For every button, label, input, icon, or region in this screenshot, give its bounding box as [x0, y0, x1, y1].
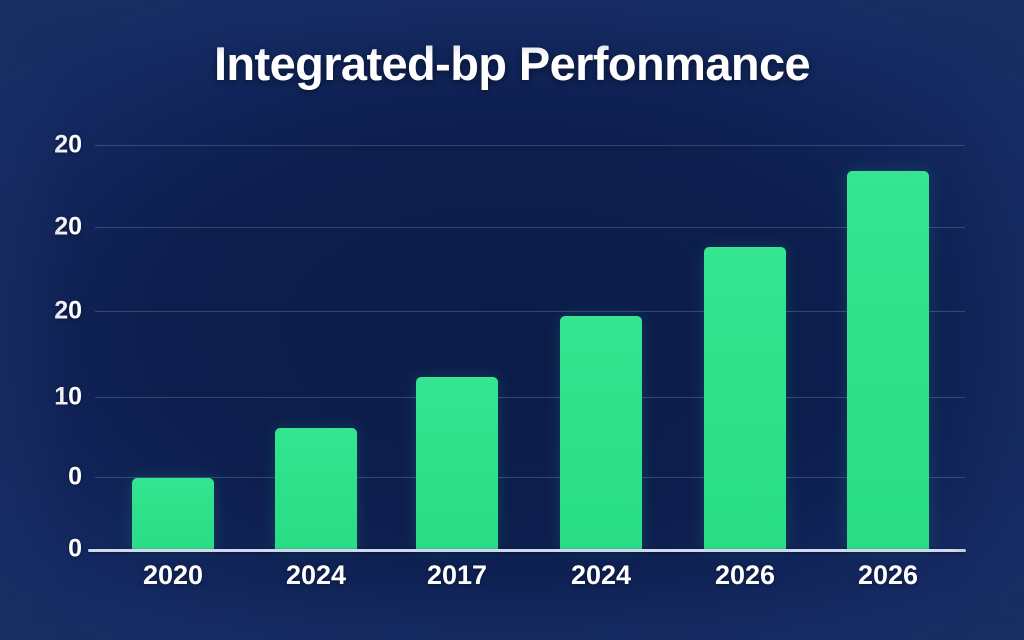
y-axis-tick-label: 20 [12, 213, 82, 242]
x-axis-tick-label: 2026 [823, 560, 953, 591]
x-axis-tick-label: 2024 [536, 560, 666, 591]
chart-container: Integrated-bp Perfonmance 20 20 20 10 0 … [0, 0, 1024, 640]
bar[interactable] [132, 478, 214, 549]
bar[interactable] [560, 316, 642, 549]
x-axis-line [88, 549, 966, 552]
y-axis-tick-label: 10 [12, 383, 82, 412]
gridline [95, 145, 965, 146]
x-axis-tick-label: 2024 [251, 560, 381, 591]
plot-area: 20 20 20 10 0 0 2020 2024 2017 2024 2026… [0, 0, 1024, 640]
y-axis-tick-label: 20 [12, 131, 82, 160]
x-axis-tick-label: 2020 [108, 560, 238, 591]
gridline [95, 397, 965, 398]
bar[interactable] [704, 247, 786, 549]
y-axis-tick-label: 0 [12, 463, 82, 492]
x-axis-tick-label: 2017 [392, 560, 522, 591]
gridline [95, 477, 965, 478]
bar[interactable] [416, 377, 498, 549]
gridline [95, 311, 965, 312]
x-axis-tick-label: 2026 [680, 560, 810, 591]
bar[interactable] [847, 171, 929, 549]
y-axis-tick-label: 20 [12, 297, 82, 326]
gridline [95, 227, 965, 228]
y-axis-tick-label: 0 [12, 535, 82, 564]
bar[interactable] [275, 428, 357, 549]
